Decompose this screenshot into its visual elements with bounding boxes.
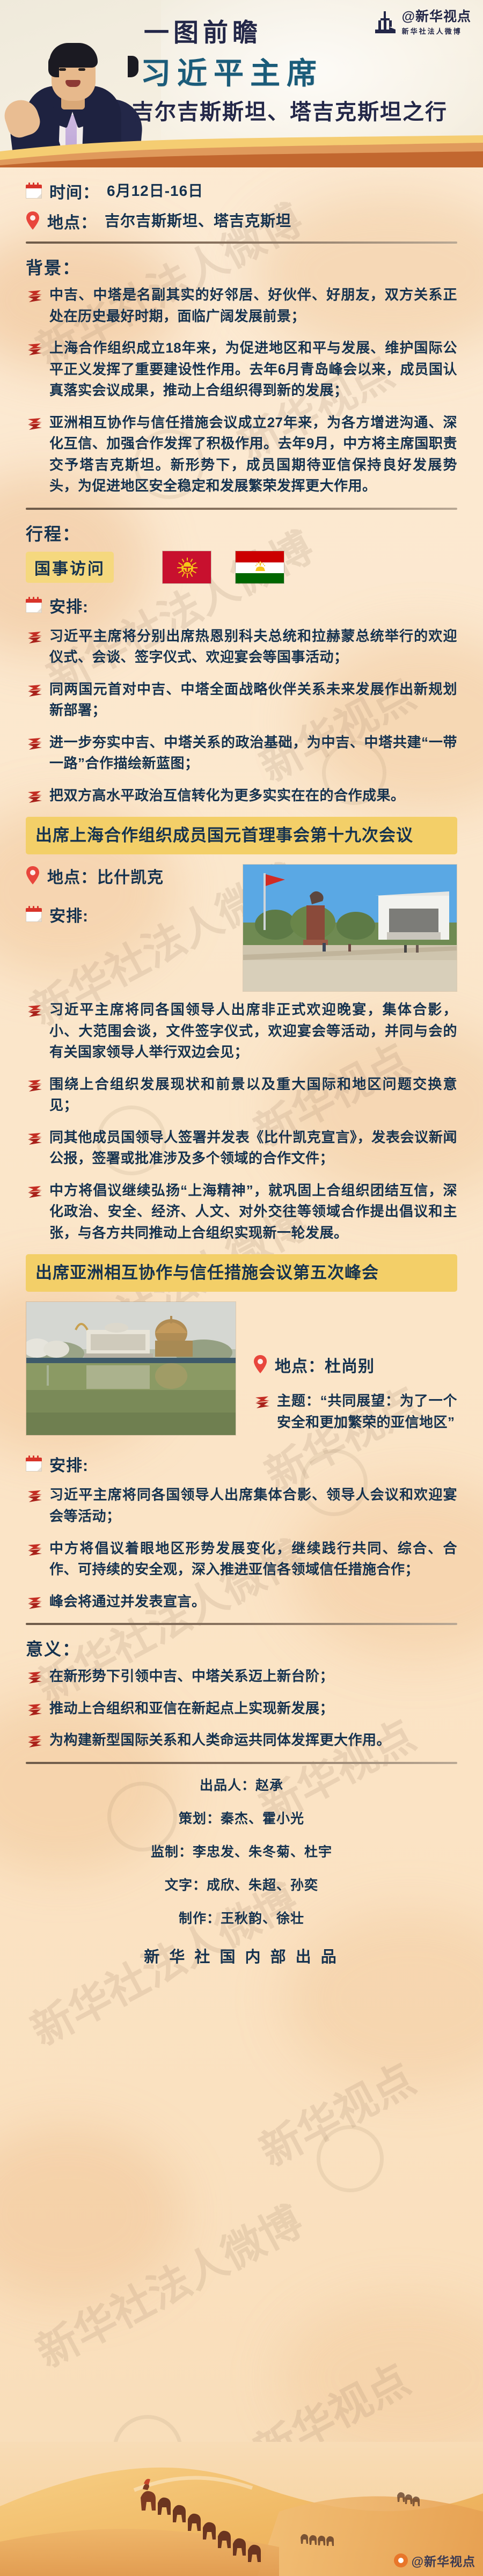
- significance-item-text: 推动上合组织和亚信在新起点上实现新发展；: [49, 1698, 334, 1719]
- cica-arrange-label: 安排:: [49, 1452, 89, 1476]
- flag-group: [162, 551, 284, 584]
- background-item: 上海合作组织成立18年来，为促进地区和平与发展、维护国际公平正义发挥了重要建设性…: [26, 338, 457, 401]
- cica-theme-text: 主题：“共同展望：为了一个安全和更加繁荣的亚信地区”: [277, 1391, 457, 1433]
- significance-item-text: 在新形势下引领中吉、中塔关系迈上新台阶；: [49, 1666, 334, 1687]
- itinerary-item-text: 把双方高水平政治互信转化为更多实实在在的合作成果。: [49, 785, 405, 807]
- sco-arrange-label: 安排:: [49, 903, 89, 926]
- section-divider: [26, 508, 457, 510]
- background-item: 亚洲相互协作与信任措施会议成立27年来，为各方增进沟通、深化互信、加强合作发挥了…: [26, 412, 457, 497]
- sco-place-label: 地点：比什凯克: [47, 864, 164, 888]
- significance-item: 推动上合组织和亚信在新起点上实现新发展；: [26, 1698, 457, 1719]
- itinerary-arrange-row: 安排:: [26, 594, 457, 617]
- ribbon-bullet-icon: [26, 1703, 43, 1718]
- cica-item-text: 习近平主席将同各国领导人出席集体合影、领导人会议和欢迎宴会等活动；: [49, 1484, 457, 1527]
- arrange-label: 安排:: [49, 594, 89, 617]
- hero-title: 习近平主席: [141, 49, 323, 93]
- texture-blotch: [279, 2297, 483, 2458]
- background-item-text: 中吉、中塔是名副其实的好邻居、好伙伴、好朋友，双方关系正处在历史最好时期，面临广…: [49, 284, 457, 327]
- significance-heading: 意义：: [26, 1636, 457, 1660]
- section-divider: [26, 241, 457, 244]
- itinerary-item-text: 进一步夯实中吉、中塔关系的政治基础，为中吉、中塔共建“一带一路”合作描绘新蓝图；: [49, 732, 457, 774]
- itinerary-item: 同两国元首对中吉、中塔全面战略伙伴关系未来发展作出新规划新部署；: [26, 679, 457, 721]
- itinerary-item-text: 同两国元首对中吉、中塔全面战略伙伴关系未来发展作出新规划新部署；: [49, 679, 457, 721]
- credit-line: 出品人：赵承: [26, 1775, 457, 1794]
- cica-place-label: 地点：杜尚别: [275, 1353, 375, 1377]
- xinhua-logo-sub: 新华社法人微博: [402, 26, 471, 36]
- ribbon-bullet-icon: [26, 737, 43, 752]
- sco-place-row: 地点：比什凯克: [26, 864, 232, 888]
- time-value: 6月12日-16日: [107, 179, 203, 201]
- ribbon-bullet-icon: [26, 1735, 43, 1750]
- cica-place-row: 地点：杜尚别: [253, 1353, 457, 1377]
- sco-item-text: 中方将倡议继续弘扬“上海精神”，就巩固上合组织团结互信，深化政治、安全、经济、人…: [49, 1180, 457, 1244]
- section-divider: [26, 1762, 457, 1764]
- ribbon-bullet-icon: [26, 1671, 43, 1686]
- sco-arrange-row: 安排:: [26, 903, 232, 926]
- significance-item: 在新形势下引领中吉、中塔关系迈上新台阶；: [26, 1666, 457, 1687]
- watermark-ring: [317, 2125, 384, 2192]
- significance-item: 为构建新型国际关系和人类命运共同体发挥更大作用。: [26, 1730, 457, 1751]
- itinerary-item: 把双方高水平政治互信转化为更多实实在在的合作成果。: [26, 785, 457, 807]
- dune-divider: [0, 135, 483, 167]
- cica-item: 峰会将通过并发表宣言。: [26, 1591, 457, 1613]
- sco-item-text: 习近平主席将同各国领导人出席非正式欢迎晚宴，集体合影，小、大范围会谈，文件签字仪…: [49, 999, 457, 1063]
- ribbon-bullet-icon: [253, 1395, 270, 1410]
- calendar-icon: [26, 597, 42, 613]
- ribbon-bullet-icon: [26, 790, 43, 805]
- xinhua-mark-icon: [373, 10, 398, 35]
- texture-blotch: [0, 2125, 182, 2302]
- ribbon-bullet-icon: [26, 1004, 43, 1019]
- place-label: 地点：: [47, 209, 97, 233]
- weibo-handle: @新华视点: [412, 2551, 475, 2570]
- cica-theme: 主题：“共同展望：为了一个安全和更加繁荣的亚信地区”: [253, 1391, 457, 1433]
- infographic-page: 新华社法人微博 新华视点 新华社法人微博 新华视点 新华社法人微博 新华视点 新…: [0, 0, 483, 2576]
- hero-subtitle: 吉尔吉斯斯坦、塔吉克斯坦之行: [132, 94, 448, 126]
- significance-item-text: 为构建新型国际关系和人类命运共同体发挥更大作用。: [49, 1730, 391, 1751]
- ribbon-bullet-icon: [26, 631, 43, 646]
- cica-item: 中方将倡议着眼地区形势发展变化，继续践行共同、综合、合作、可持续的安全观，深入推…: [26, 1538, 457, 1580]
- credit-line: 监制：李忠发、朱冬菊、杜宇: [26, 1841, 457, 1861]
- time-label: 时间：: [49, 179, 99, 203]
- watermark-text: 新华社法人微博: [25, 2189, 312, 2379]
- xinhua-logo[interactable]: @新华视点 新华社法人微博: [373, 10, 471, 36]
- cica-banner: 出席亚洲相互协作与信任措施会议第五次峰会: [26, 1254, 457, 1292]
- hero-banner: 一图前瞻 @新华视点 新华社法人微博 习近平主席 吉尔吉斯斯坦、塔吉克斯坦之行: [0, 0, 483, 167]
- sco-place-photo: 地点：比什凯克 安排:: [26, 864, 457, 992]
- cica-arrange-row: 安排:: [26, 1452, 457, 1476]
- ribbon-bullet-icon: [26, 1543, 43, 1558]
- place-row: 地点： 吉尔吉斯斯坦、塔吉克斯坦: [26, 209, 457, 233]
- background-item: 中吉、中塔是名副其实的好邻居、好伙伴、好朋友，双方关系正处在历史最好时期，面临广…: [26, 284, 457, 327]
- credit-line: 文字：成欣、朱超、孙奕: [26, 1875, 457, 1894]
- dushanbe-palace-lake-photo: [26, 1301, 236, 1436]
- background-item-text: 亚洲相互协作与信任措施会议成立27年来，为各方增进沟通、深化互信、加强合作发挥了…: [49, 412, 457, 497]
- time-row: 时间： 6月12日-16日: [26, 179, 457, 203]
- sco-banner: 出席上海合作组织成员国元首理事会第十九次会议: [26, 817, 457, 854]
- ribbon-bullet-icon: [26, 1185, 43, 1200]
- kyrgyzstan-flag: [162, 551, 211, 584]
- calendar-icon: [26, 906, 42, 922]
- bishkek-ala-too-square-photo: [243, 864, 457, 992]
- credit-line: 策划：秦杰、霍小光: [26, 1808, 457, 1827]
- ribbon-bullet-icon: [26, 417, 43, 432]
- cica-item-text: 中方将倡议着眼地区形势发展变化，继续践行共同、综合、合作、可持续的安全观，深入推…: [49, 1538, 457, 1580]
- calendar-icon: [26, 182, 42, 199]
- hero-kicker: 一图前瞻: [144, 12, 262, 49]
- sco-item-text: 同其他成员国领导人签署并发表《比什凯克宣言》，发表会议新闻公报，签署或批准涉及多…: [49, 1127, 457, 1169]
- tajikistan-flag: [235, 551, 284, 584]
- sco-item-text: 围绕上合组织发展现状和前景以及重大国际和地区问题交换意见；: [49, 1074, 457, 1116]
- credit-line: 制作：王秋韵、徐壮: [26, 1908, 457, 1927]
- sco-item: 习近平主席将同各国领导人出席非正式欢迎晚宴，集体合影，小、大范围会谈，文件签字仪…: [26, 999, 457, 1063]
- background-item-text: 上海合作组织成立18年来，为促进地区和平与发展、维护国际公平正义发挥了重要建设性…: [49, 338, 457, 401]
- cica-photo-theme: 地点：杜尚别 主题：“共同展望：为了一个安全和更加繁荣的亚信地区”: [26, 1301, 457, 1444]
- section-divider: [26, 1623, 457, 1625]
- ribbon-bullet-icon: [26, 342, 43, 357]
- background-heading: 背景：: [26, 254, 457, 279]
- ribbon-bullet-icon: [26, 1596, 43, 1611]
- sco-item: 中方将倡议继续弘扬“上海精神”，就巩固上合组织团结互信，深化政治、安全、经济、人…: [26, 1180, 457, 1244]
- ribbon-bullet-icon: [26, 289, 43, 304]
- content-body: 时间： 6月12日-16日 地点： 吉尔吉斯斯坦、塔吉克斯坦 背景： 中吉、中塔…: [0, 167, 483, 1967]
- itinerary-item: 进一步夯实中吉、中塔关系的政治基础，为中吉、中塔共建“一带一路”合作描绘新蓝图；: [26, 732, 457, 774]
- cica-item-text: 峰会将通过并发表宣言。: [49, 1591, 206, 1613]
- weibo-watermark: @新华视点: [394, 2551, 475, 2570]
- map-pin-icon: [26, 211, 40, 230]
- credits-block: 出品人：赵承 策划：秦杰、霍小光 监制：李忠发、朱冬菊、杜宇 文字：成欣、朱超、…: [26, 1775, 457, 1927]
- watermark-text: 新华视点: [248, 2046, 424, 2178]
- ribbon-bullet-icon: [26, 1132, 43, 1147]
- calendar-icon: [26, 1455, 42, 1472]
- ribbon-bullet-icon: [26, 1079, 43, 1094]
- ribbon-bullet-icon: [26, 684, 43, 699]
- xinhua-logo-main: @新华视点: [402, 10, 471, 25]
- map-pin-icon: [26, 866, 40, 884]
- ribbon-bullet-icon: [26, 1489, 43, 1504]
- state-visit-chip: 国事访问: [26, 552, 114, 583]
- footer-desert: @新华视点: [0, 2442, 483, 2576]
- weibo-eye-icon: [394, 2553, 408, 2567]
- itinerary-item: 习近平主席将分别出席热恩别科夫总统和拉赫蒙总统举行的欢迎仪式、会谈、签字仪式、欢…: [26, 626, 457, 668]
- sco-item: 同其他成员国领导人签署并发表《比什凯克宣言》，发表会议新闻公报，签署或批准涉及多…: [26, 1127, 457, 1169]
- produced-by: 新 华 社 国 内 部 出 品: [26, 1944, 457, 1967]
- place-value: 吉尔吉斯斯坦、塔吉克斯坦: [105, 209, 291, 231]
- itinerary-heading: 行程：: [26, 521, 457, 545]
- sco-item: 围绕上合组织发展现状和前景以及重大国际和地区问题交换意见；: [26, 1074, 457, 1116]
- itinerary-item-text: 习近平主席将分别出席热恩别科夫总统和拉赫蒙总统举行的欢迎仪式、会谈、签字仪式、欢…: [49, 626, 457, 668]
- map-pin-icon: [253, 1355, 267, 1373]
- cica-item: 习近平主席将同各国领导人出席集体合影、领导人会议和欢迎宴会等活动；: [26, 1484, 457, 1527]
